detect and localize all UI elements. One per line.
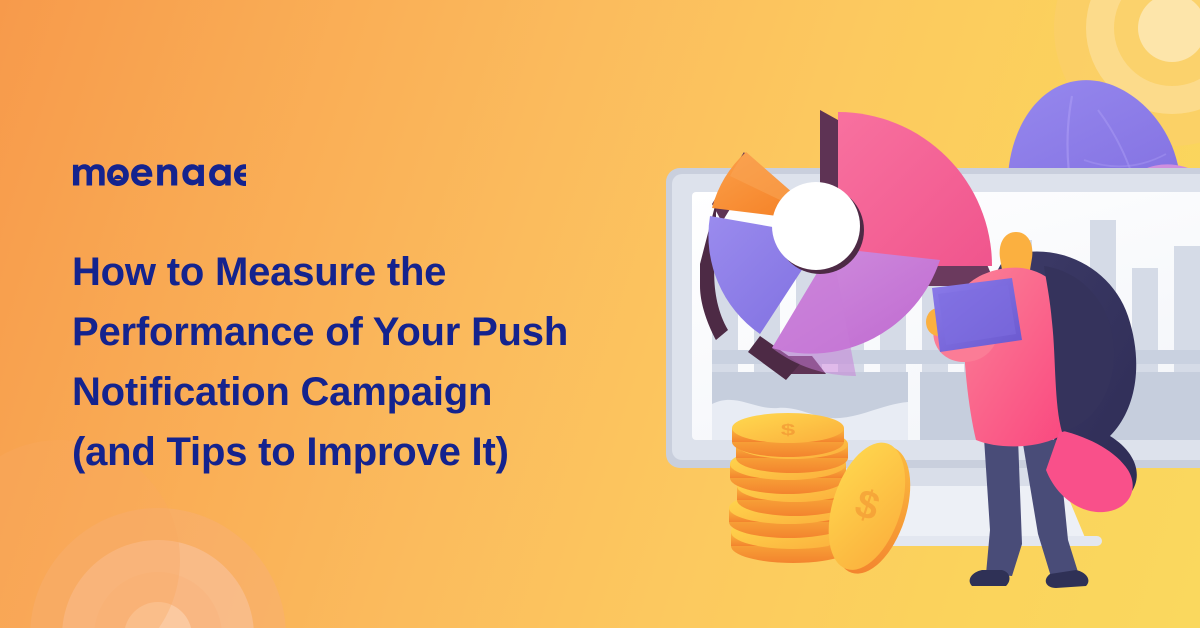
shoe-left (970, 570, 1010, 586)
coin-top: $ (732, 413, 844, 457)
headline-line-2: Performance of Your Push (72, 302, 652, 362)
blog-banner: $ $ (0, 0, 1200, 628)
tablet (932, 278, 1022, 352)
leg-left (984, 438, 1022, 576)
headline-line-3: Notification Campaign (72, 362, 652, 422)
headline-line-4: (and Tips to Improve It) (72, 422, 652, 482)
moengage-logo[interactable] (72, 156, 672, 190)
svg-text:$: $ (781, 420, 795, 439)
moengage-logo-icon (72, 156, 246, 186)
donut-hub (772, 182, 860, 270)
text-column: How to Measure the Performance of Your P… (72, 156, 672, 482)
page-title: How to Measure the Performance of Your P… (72, 242, 652, 482)
headline-line-1: How to Measure the (72, 242, 652, 302)
dollar-sign-icon: $ (781, 420, 795, 439)
